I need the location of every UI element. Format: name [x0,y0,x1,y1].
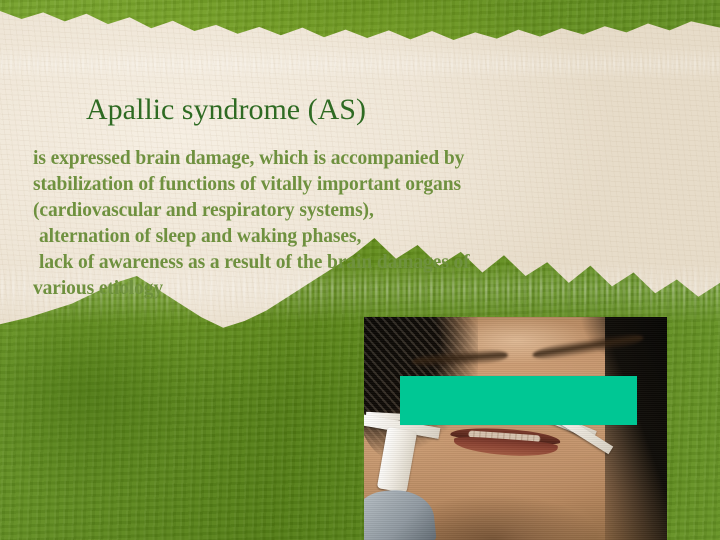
page-title: Apallic syndrome (AS) [86,92,366,128]
slide-body-text: is expressed brain damage, which is acco… [33,146,653,302]
body-line-4: alternation of sleep and waking phases, [33,224,653,250]
eye-redaction-bar [400,376,637,425]
presentation-slide: Apallic syndrome (AS) is expressed brain… [0,0,720,540]
body-line-3: (cardiovascular and respiratory systems)… [33,198,653,224]
body-line-1: is expressed brain damage, which is acco… [33,146,653,172]
body-line-5: lack of awareness as a result of the bra… [33,250,653,276]
clinical-photo [364,317,667,540]
body-line-2: stabilization of functions of vitally im… [33,172,653,198]
body-line-6: various etiology [33,276,653,302]
